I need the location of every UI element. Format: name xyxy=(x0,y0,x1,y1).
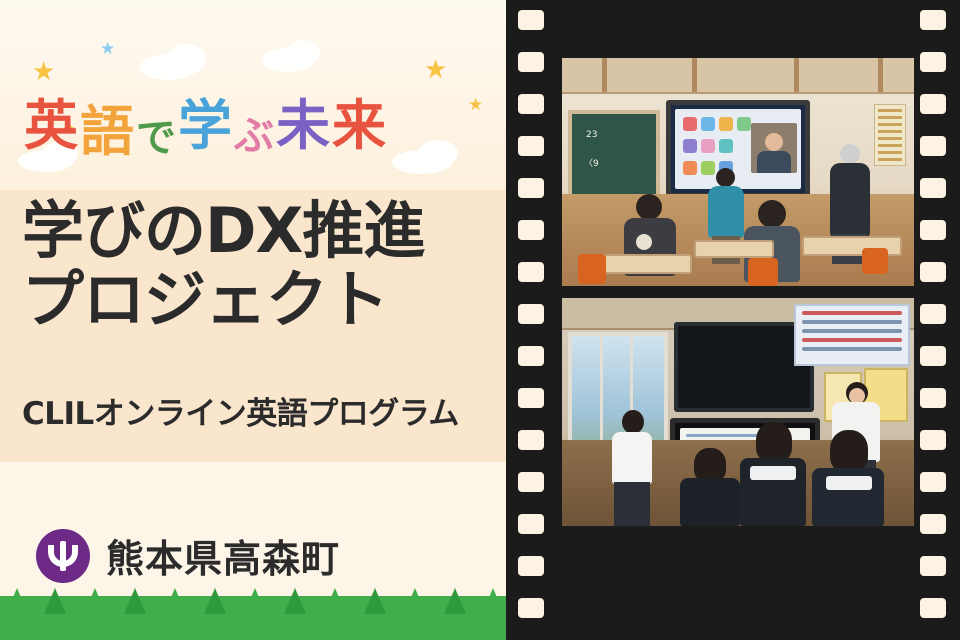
film-perforation xyxy=(518,346,544,366)
student-standing xyxy=(610,410,654,526)
headline: 英 語 で 学 ぶ 未 来 xyxy=(24,86,494,166)
star-icon: ★ xyxy=(100,40,115,57)
film-perforation xyxy=(920,514,946,534)
film-perforation xyxy=(920,472,946,492)
title-line-2: プロジェクト xyxy=(22,265,512,334)
film-perforation xyxy=(518,178,544,198)
film-perforation xyxy=(920,262,946,282)
film-perforation xyxy=(920,136,946,156)
film-perforation xyxy=(920,52,946,72)
title-line-1: 学びのDX推進 xyxy=(22,196,512,265)
headline-char-4: 学 xyxy=(178,99,232,153)
chalkboard: 23 〈9 xyxy=(568,110,660,200)
chalkboard-text-2: 〈9 xyxy=(584,156,599,169)
desk xyxy=(694,240,774,258)
film-perforation xyxy=(920,220,946,240)
wall-poster xyxy=(874,104,906,166)
classroom-banner xyxy=(794,304,910,366)
cloud-icon xyxy=(166,44,206,74)
film-perforation xyxy=(518,388,544,408)
film-perforation xyxy=(518,10,544,30)
left-panel: ★ ★ ★ ★ ✦ 英 語 で 学 ぶ 未 来 学びのDX推進 プロジェクト C… xyxy=(0,0,512,640)
cloud-icon xyxy=(286,40,320,66)
film-perforation xyxy=(920,430,946,450)
town-name: 熊本県高森町 xyxy=(106,528,340,583)
film-perforation xyxy=(518,304,544,324)
town-logo-icon xyxy=(36,529,90,583)
film-perforation xyxy=(920,94,946,114)
desk xyxy=(596,254,692,274)
film-perforation xyxy=(920,178,946,198)
headline-char-1: 英 xyxy=(24,99,78,153)
subtitle: CLILオンライン英語プログラム xyxy=(22,388,459,433)
chair xyxy=(862,248,888,274)
film-strip: 23 〈9 xyxy=(506,0,960,640)
film-perforation xyxy=(920,556,946,576)
headline-char-5: ぶ xyxy=(234,116,274,156)
title-block: 学びのDX推進 プロジェクト xyxy=(0,196,512,335)
film-perforation xyxy=(518,556,544,576)
film-perforation xyxy=(518,94,544,114)
film-perforation xyxy=(518,136,544,156)
film-perforation xyxy=(920,304,946,324)
chair xyxy=(748,258,778,286)
film-perforation xyxy=(920,10,946,30)
film-perforation xyxy=(920,346,946,366)
film-perforation xyxy=(518,430,544,450)
film-perforation xyxy=(518,220,544,240)
grass-decoration xyxy=(0,596,512,640)
film-perforation xyxy=(920,598,946,618)
film-perforation xyxy=(518,52,544,72)
chalkboard-text-1: 23 xyxy=(586,130,597,140)
photo-classroom-monitor-students xyxy=(562,298,914,526)
wall-monitor xyxy=(674,322,814,412)
town-row: 熊本県高森町 xyxy=(36,528,340,583)
film-perforation xyxy=(518,472,544,492)
film-perforation xyxy=(518,514,544,534)
headline-char-6: 未 xyxy=(276,99,330,153)
star-icon: ★ xyxy=(424,56,447,82)
chair xyxy=(578,254,606,284)
film-perforation xyxy=(518,262,544,282)
photo-classroom-electronic-board: 23 〈9 xyxy=(562,58,914,286)
student-foreground xyxy=(680,448,740,526)
headline-char-2: 語 xyxy=(80,105,134,159)
film-perforation xyxy=(518,598,544,618)
video-call-tile xyxy=(751,123,797,173)
headline-char-3: で xyxy=(136,118,176,158)
student-foreground xyxy=(738,422,808,526)
poster-canvas: ★ ★ ★ ★ ✦ 英 語 で 学 ぶ 未 来 学びのDX推進 プロジェクト C… xyxy=(0,0,960,640)
film-perforation xyxy=(920,388,946,408)
star-icon: ★ xyxy=(32,58,55,84)
headline-char-7: 来 xyxy=(332,99,386,153)
student-foreground xyxy=(812,430,884,526)
